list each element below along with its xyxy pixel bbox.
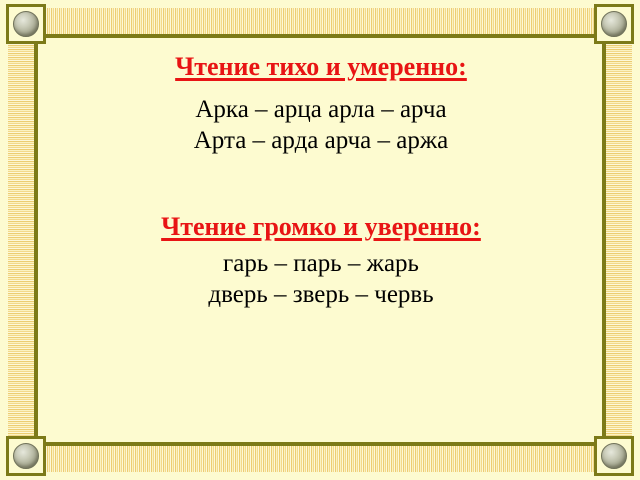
exercise-line: гарь – парь – жарь bbox=[46, 249, 596, 280]
sphere-icon bbox=[601, 443, 627, 469]
section-loud-reading: Чтение громко и уверенно: гарь – парь – … bbox=[46, 212, 596, 310]
sphere-icon bbox=[13, 443, 39, 469]
slide-content: Чтение тихо и умеренно: Арка – арца арла… bbox=[46, 44, 596, 436]
corner-ornament-top-right bbox=[594, 4, 634, 44]
sphere-icon bbox=[601, 11, 627, 37]
sphere-icon bbox=[13, 11, 39, 37]
border-band-top bbox=[40, 8, 600, 38]
exercise-line: Арта – арда арча – аржа bbox=[46, 126, 596, 157]
section-heading-loud: Чтение громко и уверенно: bbox=[46, 212, 596, 241]
corner-ornament-top-left bbox=[6, 4, 46, 44]
corner-ornament-bottom-left bbox=[6, 436, 46, 476]
exercise-line: дверь – зверь – червь bbox=[46, 280, 596, 311]
section-quiet-reading: Чтение тихо и умеренно: Арка – арца арла… bbox=[46, 52, 596, 156]
section-heading-quiet: Чтение тихо и умеренно: bbox=[46, 52, 596, 81]
border-band-right bbox=[602, 38, 632, 442]
slide: Чтение тихо и умеренно: Арка – арца арла… bbox=[0, 0, 640, 480]
border-band-bottom bbox=[40, 442, 600, 472]
border-band-left bbox=[8, 38, 38, 442]
exercise-line: Арка – арца арла – арча bbox=[46, 95, 596, 126]
corner-ornament-bottom-right bbox=[594, 436, 634, 476]
